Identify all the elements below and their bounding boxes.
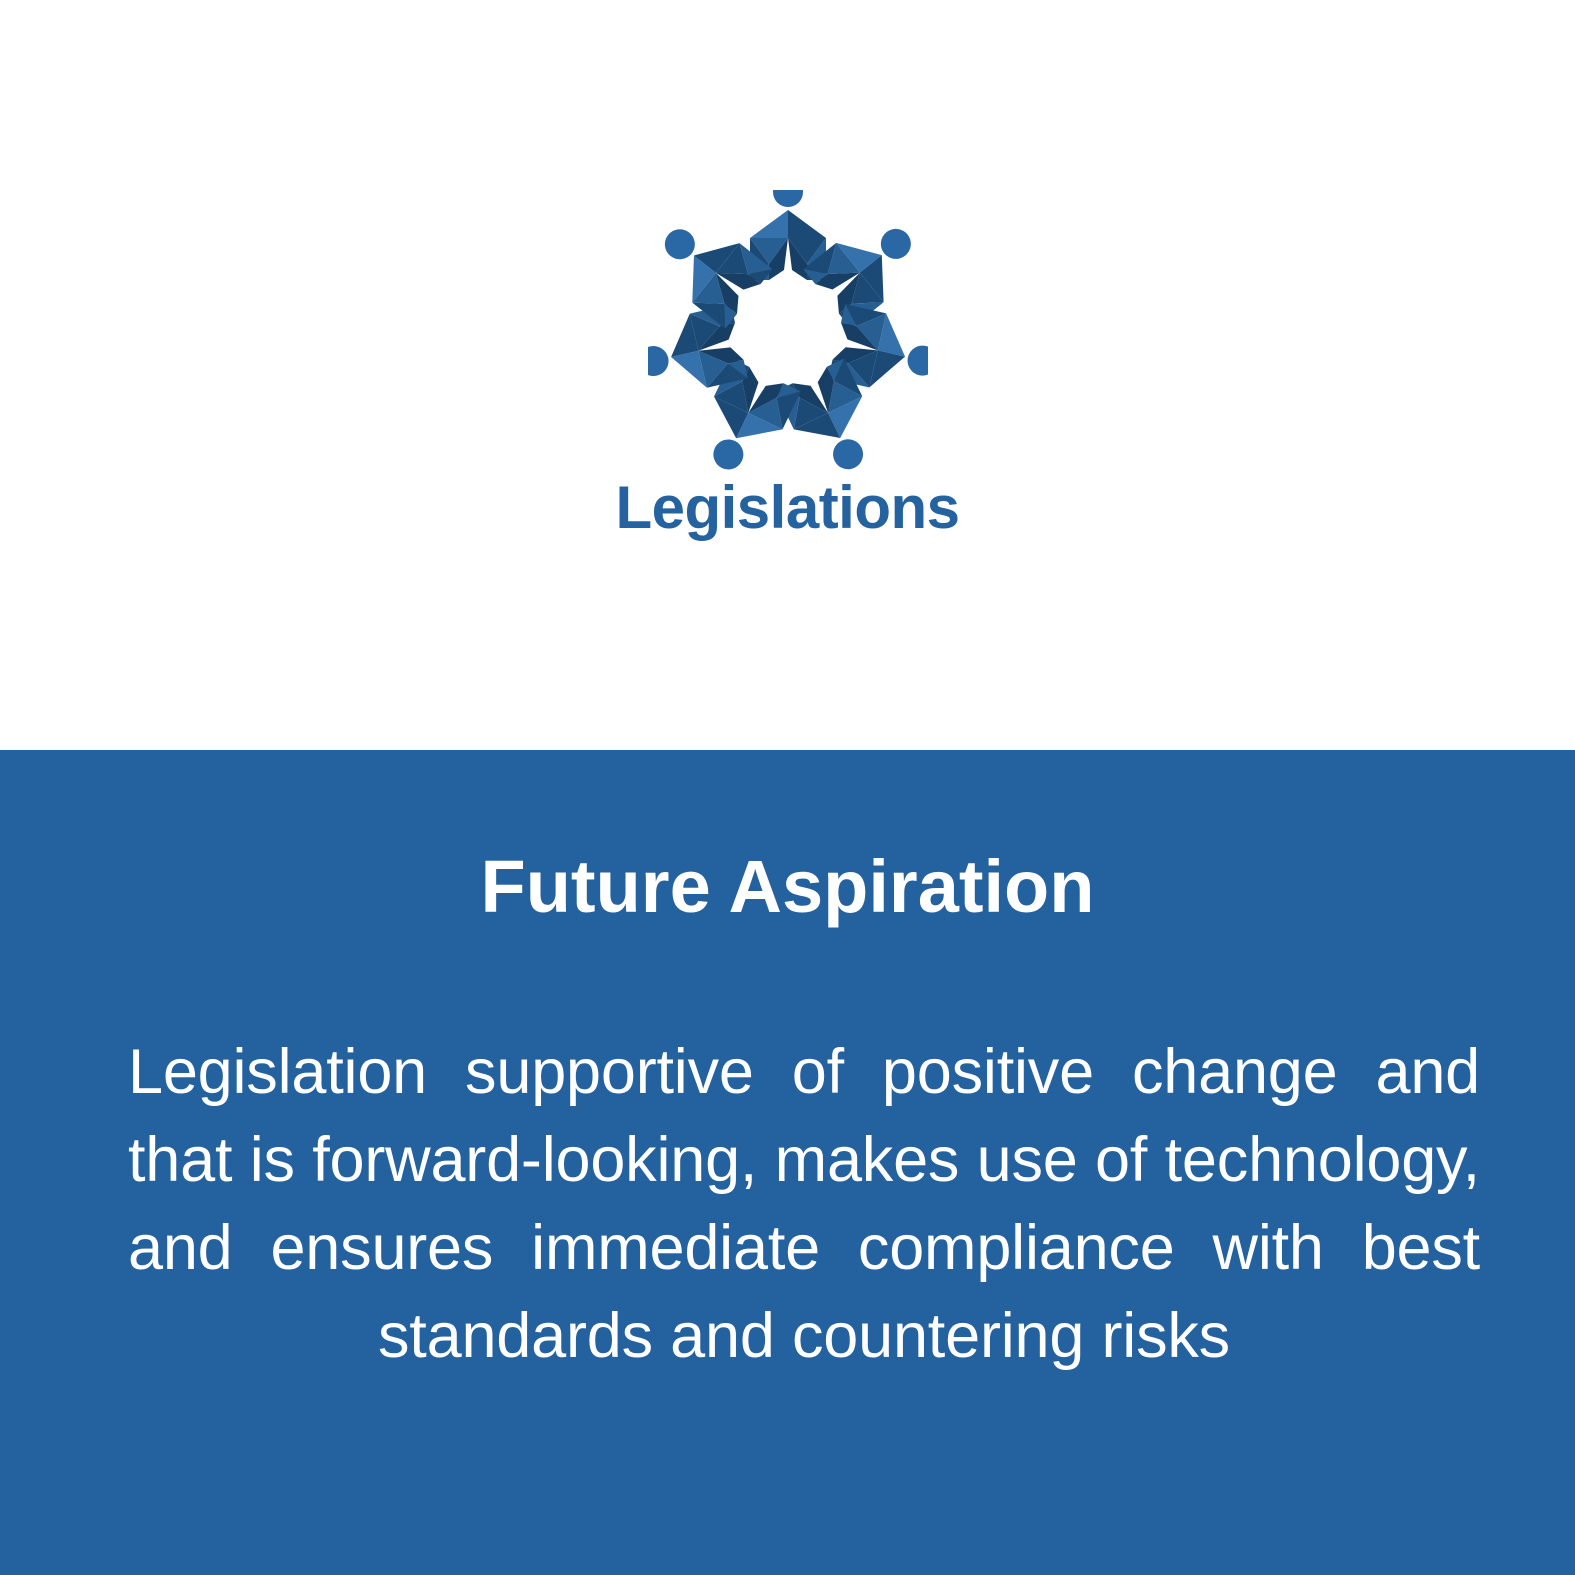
body-line-3: and ensures immediate compliance with be… <box>128 1204 1480 1292</box>
panel-heading: Future Aspiration <box>0 850 1575 924</box>
logo-wordmark: Legislations <box>615 478 959 538</box>
logo-section: Legislations <box>0 0 1575 750</box>
body-line-4: standards and countering risks <box>128 1292 1480 1380</box>
slide-root: Legislations Future Aspiration Legislati… <box>0 0 1575 1575</box>
people-circle-star-logo-icon <box>648 190 928 470</box>
body-line-1: Legislation supportive of positive chang… <box>128 1028 1480 1116</box>
body-line-2: that is forward-looking, makes use of te… <box>128 1116 1480 1204</box>
future-aspiration-panel: Future Aspiration Legislation supportive… <box>0 750 1575 1575</box>
panel-body-text: Legislation supportive of positive chang… <box>128 1028 1480 1468</box>
brand-logo-block: Legislations <box>0 190 1575 538</box>
